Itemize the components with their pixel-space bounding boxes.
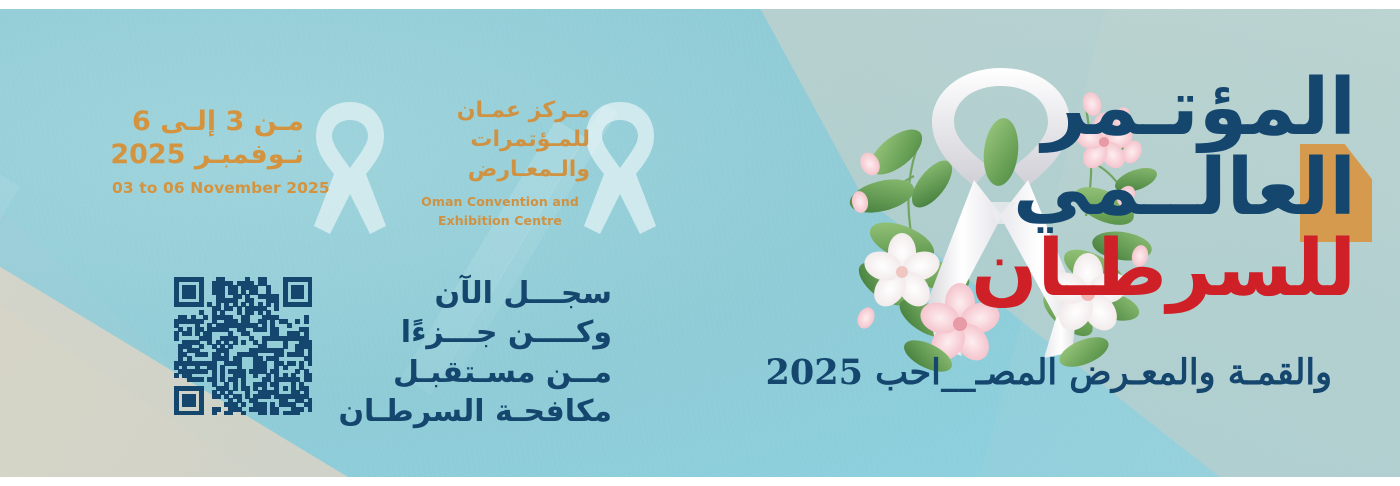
event-venue-arabic-line2: للمـؤتمرات <box>410 125 590 154</box>
event-venue: مـركز عمـان للمـؤتمرات والـمعـارض Oman C… <box>410 96 590 230</box>
conference-title-line3: للسرطـان <box>636 231 1356 307</box>
registration-call-to-action: سجـــل الآن وكــــن جـــزءًا مــن مسـتقب… <box>322 274 612 431</box>
event-dates: مـن 3 إلـى 6 نـوفمبـر 2025 03 to 06 Nove… <box>112 106 304 197</box>
event-venue-english-line2: Exhibition Centre <box>410 212 590 230</box>
event-venue-english-line1: Oman Convention and <box>410 193 590 211</box>
registration-line3: مــن مسـتقبـل <box>322 353 612 392</box>
event-dates-arabic-line1: مـن 3 إلـى 6 <box>112 106 304 139</box>
frame-edge-bottom <box>0 477 1400 486</box>
conference-subtitle: والقمـة والمعـرض المصـ__احب 2025 <box>692 352 1332 393</box>
event-venue-arabic-line1: مـركز عمـان <box>410 96 590 125</box>
event-venue-arabic-line3: والـمعـارض <box>410 155 590 184</box>
registration-line4: مكافحـة السرطـان <box>322 392 612 431</box>
conference-title-line1: المؤتـمر <box>636 70 1356 146</box>
event-dates-english: 03 to 06 November 2025 <box>112 179 304 197</box>
conference-banner: مـن 3 إلـى 6 نـوفمبـر 2025 03 to 06 Nove… <box>0 0 1400 486</box>
event-dates-arabic-line2: نـوفمبـر 2025 <box>112 139 304 172</box>
frame-edge-top <box>0 0 1400 9</box>
registration-line2: وكــــن جـــزءًا <box>322 313 612 352</box>
registration-line1: سجـــل الآن <box>322 274 612 313</box>
awareness-ribbon-icon <box>308 98 392 238</box>
conference-title: المؤتـمر العالــمي للسرطـان <box>636 70 1356 307</box>
registration-qr-code[interactable] <box>174 277 312 415</box>
conference-title-line2: العالــمي <box>636 150 1356 226</box>
